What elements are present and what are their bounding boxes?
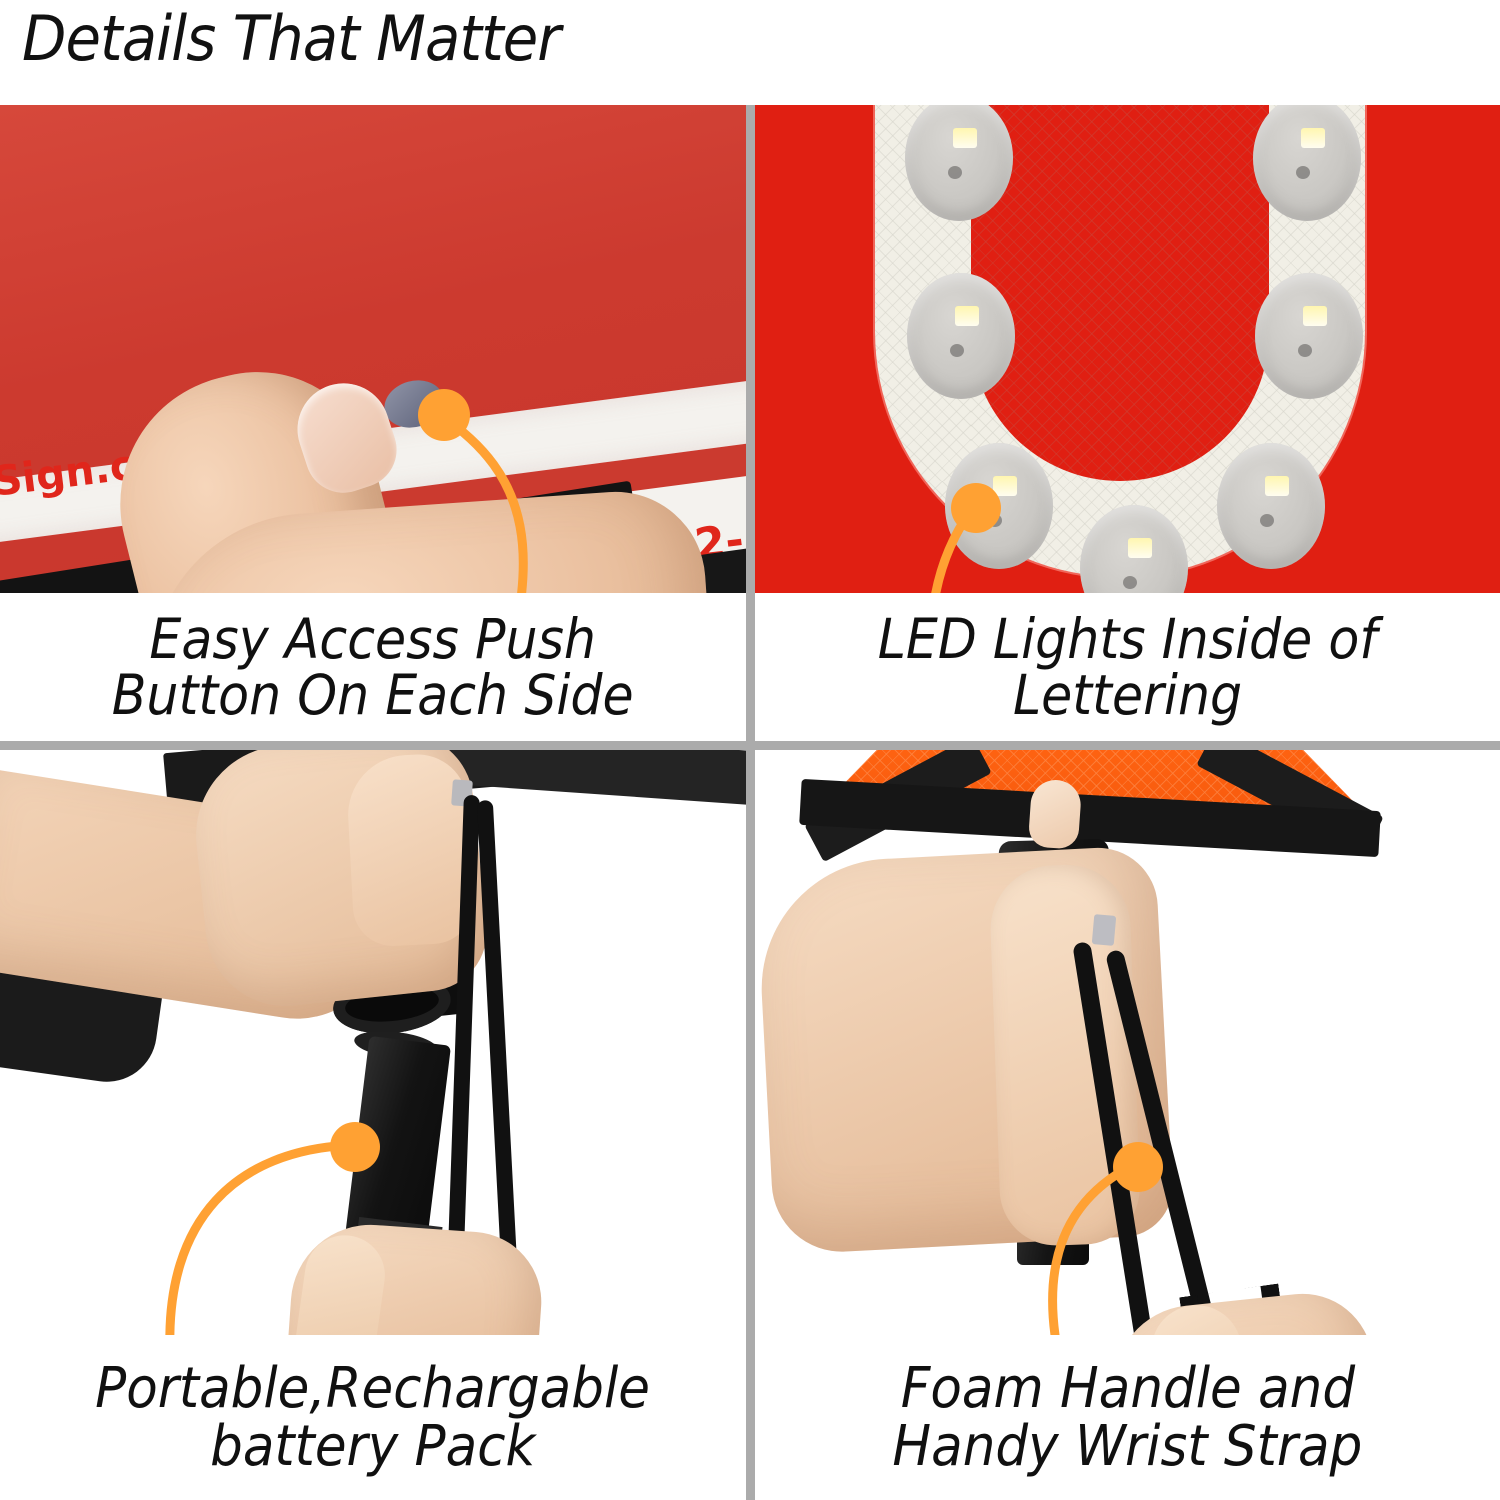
panel-foam-handle: Foam Handle and Handy Wrist Strap [755,750,1500,1500]
panel-battery-pack: Portable,Rechargable battery Pack [0,750,746,1500]
panel-foam-handle-caption: Foam Handle and Handy Wrist Strap [755,1335,1500,1500]
divider-vertical [746,105,755,1500]
caption-line-1: Easy Access Push [150,611,597,667]
thumbnail [1028,778,1083,849]
divider-horizontal [0,741,1500,750]
panel-led-lights: LED Lights Inside of Lettering [755,105,1500,741]
led-module [1217,443,1325,569]
panel-led-lights-photo [755,105,1500,593]
caption-line-1: Foam Handle and [900,1360,1354,1417]
led-callout-dot [951,483,1001,533]
strap-ferrule [1092,914,1117,946]
led-module [1255,273,1363,399]
caption-line-1: LED Lights Inside of [878,611,1377,667]
push-button-callout-dot [418,389,470,441]
header: Details That Matter [0,0,1500,105]
battery-callout-dot [330,1122,380,1172]
page-title: Details That Matter [22,2,560,75]
caption-line-2: battery Pack [210,1418,535,1475]
caption-line-2: Handy Wrist Strap [893,1418,1363,1475]
wrist-strap-side-b [477,800,519,1305]
panel-led-lights-caption: LED Lights Inside of Lettering [755,593,1500,741]
infographic-page: Details That Matter Sign.com (800) 952- … [0,0,1500,1500]
panel-push-button-photo: Sign.com (800) 952- [0,105,746,593]
wrist-strap-callout-dot [1113,1142,1163,1192]
caption-line-1: Portable,Rechargable [96,1360,651,1417]
caption-line-2: Lettering [1013,667,1242,723]
led-module [907,273,1015,399]
panel-battery-pack-photo [0,750,746,1335]
caption-line-2: Button On Each Side [112,667,634,723]
panel-push-button: Sign.com (800) 952- Easy Access Push But… [0,105,746,741]
panel-foam-handle-photo [755,750,1500,1335]
panel-battery-pack-caption: Portable,Rechargable battery Pack [0,1335,746,1500]
panel-push-button-caption: Easy Access Push Button On Each Side [0,593,746,741]
